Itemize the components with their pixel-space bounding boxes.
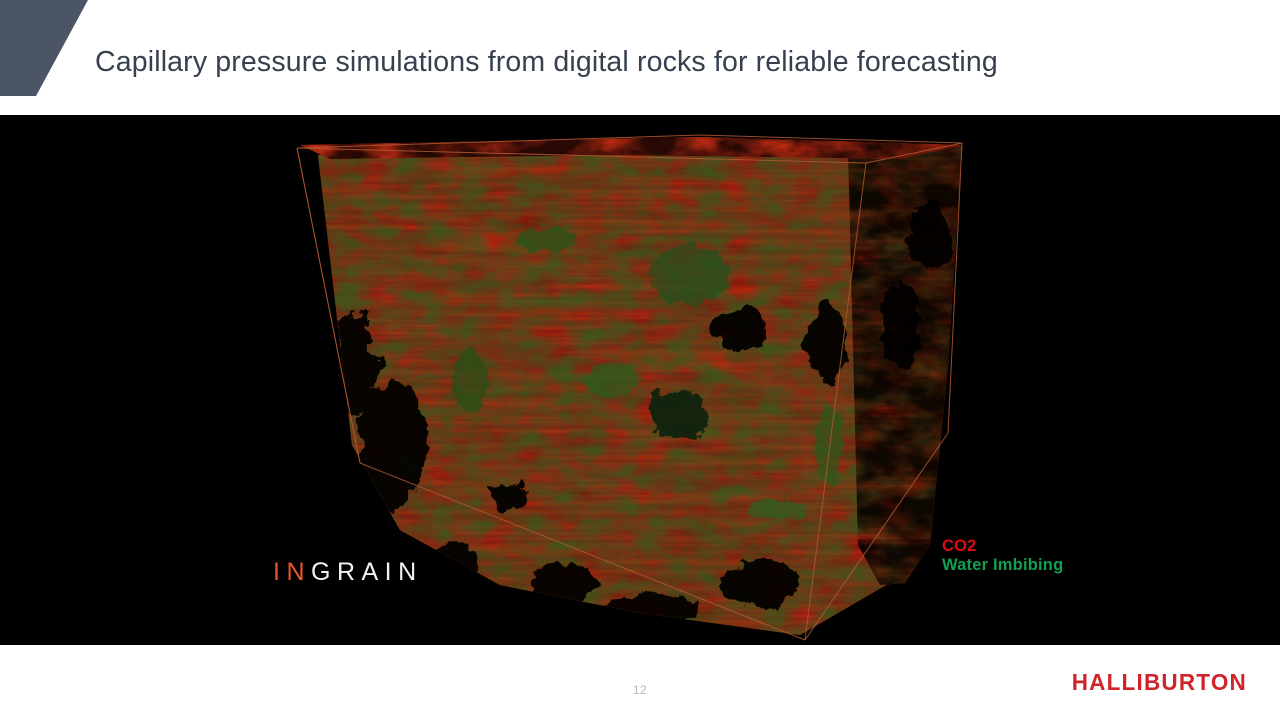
ingrain-logo-grain: GRAIN: [311, 558, 423, 586]
slide-header: Capillary pressure simulations from digi…: [0, 0, 1280, 115]
corner-accent-shape: [0, 0, 90, 96]
visualization-legend: CO2 Water Imbibing: [942, 537, 1063, 576]
page-title: Capillary pressure simulations from digi…: [95, 46, 1185, 79]
visualization-canvas[interactable]: INGRAIN CO2 Water Imbibing: [0, 115, 1280, 645]
slide: Capillary pressure simulations from digi…: [0, 0, 1280, 720]
rock-volume-render: [0, 115, 1280, 645]
ingrain-logo: INGRAIN: [273, 560, 423, 585]
legend-item-co2: CO2: [942, 537, 1063, 556]
halliburton-logo: HALLIBURTON: [1072, 671, 1247, 694]
ingrain-logo-in: IN: [273, 558, 311, 586]
legend-item-water-imbibing: Water Imbibing: [942, 556, 1063, 575]
